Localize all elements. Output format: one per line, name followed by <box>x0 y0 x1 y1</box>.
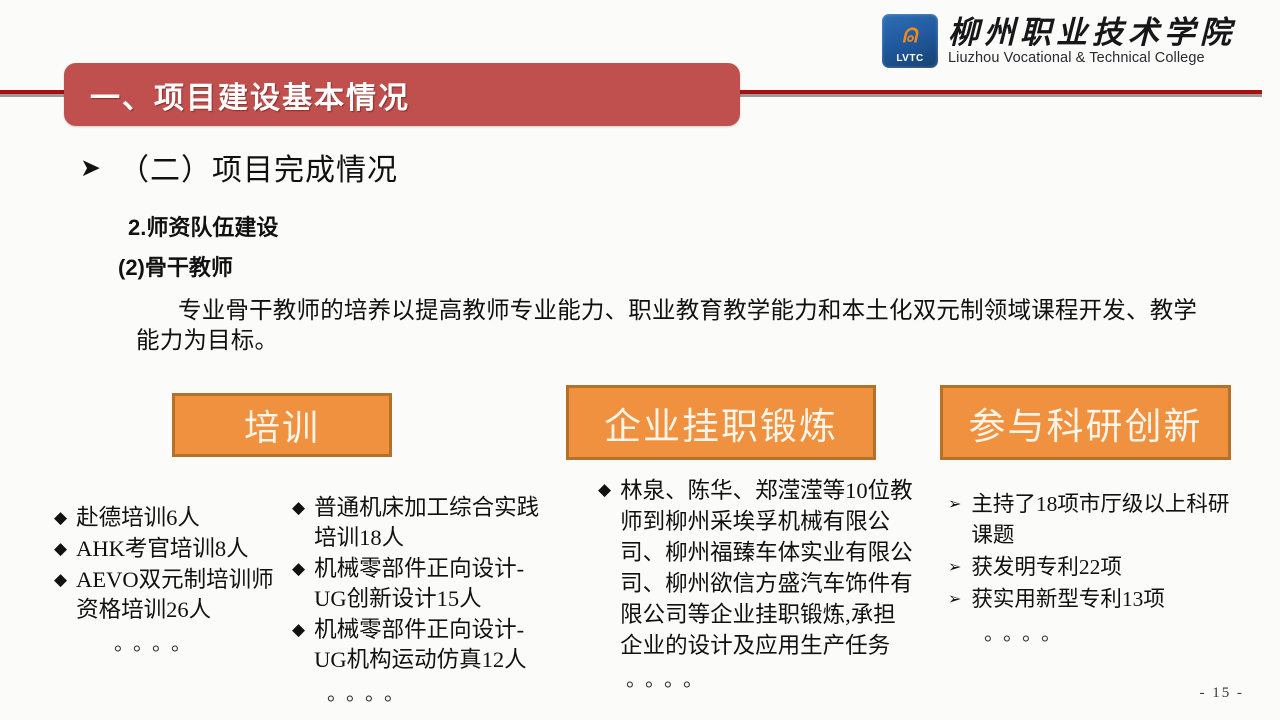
list-item: ◆ AEVO双元制培训师资格培训26人 <box>54 565 286 625</box>
list-item-text: 获发明专利22项 <box>971 552 1122 583</box>
logo-text-block: 柳州职业技术学院 Liuzhou Vocational & Technical … <box>948 16 1236 67</box>
body-paragraph: 专业骨干教师的培养以提高教师专业能力、职业教育教学能力和本土化双元制领域课程开发… <box>136 296 1206 356</box>
bullet-column-training-left: ◆ 赴德培训6人 ◆ AHK考官培训8人 ◆ AEVO双元制培训师资格培训26人… <box>54 503 286 657</box>
list-item-text: 机械零部件正向设计-UG机构运动仿真12人 <box>314 615 552 675</box>
page-number: - 15 - <box>1200 685 1245 702</box>
list-item: ➢ 获发明专利22项 <box>948 552 1238 583</box>
slide-canvas: ⍝ LVTC 柳州职业技术学院 Liuzhou Vocational & Tec… <box>0 0 1280 720</box>
college-logo: ⍝ LVTC 柳州职业技术学院 Liuzhou Vocational & Tec… <box>882 14 1236 68</box>
list-item: ◆ 普通机床加工综合实践培训18人 <box>292 493 552 553</box>
lvtc-badge-icon: ⍝ LVTC <box>882 14 938 68</box>
category-box-enterprise-label: 企业挂职锻炼 <box>604 396 838 450</box>
diamond-bullet-icon: ◆ <box>292 554 305 584</box>
body-sub-heading: (2)骨干教师 <box>118 250 233 282</box>
arrow-bullet-icon: ➢ <box>948 584 961 614</box>
list-item-text: 普通机床加工综合实践培训18人 <box>314 493 552 553</box>
list-item: ◆ 赴德培训6人 <box>54 503 286 533</box>
diamond-bullet-icon: ◆ <box>598 475 611 505</box>
category-box-research: 参与科研创新 <box>940 385 1231 460</box>
bullet-column-enterprise-practice: ◆ 林泉、陈华、郑滢滢等10位教师到柳州采埃孚机械有限公司、柳州福臻车体实业有限… <box>598 475 916 693</box>
list-item-text: 赴德培训6人 <box>76 503 200 533</box>
section-title-text: 一、项目建设基本情况 <box>90 73 410 117</box>
category-box-enterprise: 企业挂职锻炼 <box>566 385 876 460</box>
diamond-bullet-icon: ◆ <box>54 534 67 564</box>
list-item: ➢ 获实用新型专利13项 <box>948 584 1238 615</box>
diamond-bullet-icon: ◆ <box>54 503 67 533</box>
arrow-bullet-icon: ➤ <box>80 155 101 180</box>
lvtc-abbr-label: LVTC <box>882 53 938 64</box>
list-item-text: 主持了18项市厅级以上科研课题 <box>971 489 1238 551</box>
list-ellipsis: 。。。。 <box>327 681 552 707</box>
arrow-bullet-icon: ➢ <box>948 552 961 582</box>
list-item: ➢ 主持了18项市厅级以上科研课题 <box>948 489 1238 551</box>
diamond-bullet-icon: ◆ <box>54 565 67 595</box>
list-item-text: 林泉、陈华、郑滢滢等10位教师到柳州采埃孚机械有限公司、柳州福臻车体实业有限公司… <box>620 475 916 661</box>
college-name-cn: 柳州职业技术学院 <box>948 16 1236 50</box>
diamond-bullet-icon: ◆ <box>292 493 305 523</box>
list-item-text: 获实用新型专利13项 <box>971 584 1165 615</box>
body-section-heading: 2.师资队伍建设 <box>128 210 278 242</box>
category-box-training-label: 培训 <box>244 399 320 451</box>
list-item: ◆ 机械零部件正向设计-UG创新设计15人 <box>292 554 552 614</box>
lvtc-mark-glyph: ⍝ <box>879 19 941 49</box>
college-name-en: Liuzhou Vocational & Technical College <box>948 50 1236 67</box>
bullet-column-research-innovation: ➢ 主持了18项市厅级以上科研课题 ➢ 获发明专利22项 ➢ 获实用新型专利13… <box>948 489 1238 647</box>
category-box-research-label: 参与科研创新 <box>969 396 1203 450</box>
list-item-text: 机械零部件正向设计-UG创新设计15人 <box>314 554 552 614</box>
list-item-text: AEVO双元制培训师资格培训26人 <box>76 565 286 625</box>
list-item-text: AHK考官培训8人 <box>76 534 249 564</box>
diamond-bullet-icon: ◆ <box>292 615 305 645</box>
subsection-heading: ➤ （二）项目完成情况 <box>80 145 398 189</box>
subsection-heading-text: （二）项目完成情况 <box>119 145 398 189</box>
list-ellipsis: 。。。。 <box>984 621 1238 647</box>
list-item: ◆ AHK考官培训8人 <box>54 534 286 564</box>
list-item: ◆ 林泉、陈华、郑滢滢等10位教师到柳州采埃孚机械有限公司、柳州福臻车体实业有限… <box>598 475 916 661</box>
list-item: ◆ 机械零部件正向设计-UG机构运动仿真12人 <box>292 615 552 675</box>
list-ellipsis: 。。。。 <box>626 667 916 693</box>
category-box-training: 培训 <box>172 393 392 457</box>
section-title-banner: 一、项目建设基本情况 <box>64 63 740 126</box>
bullet-column-training-right: ◆ 普通机床加工综合实践培训18人 ◆ 机械零部件正向设计-UG创新设计15人 … <box>292 493 552 707</box>
arrow-bullet-icon: ➢ <box>948 489 961 519</box>
list-ellipsis: 。。。。 <box>114 631 286 657</box>
